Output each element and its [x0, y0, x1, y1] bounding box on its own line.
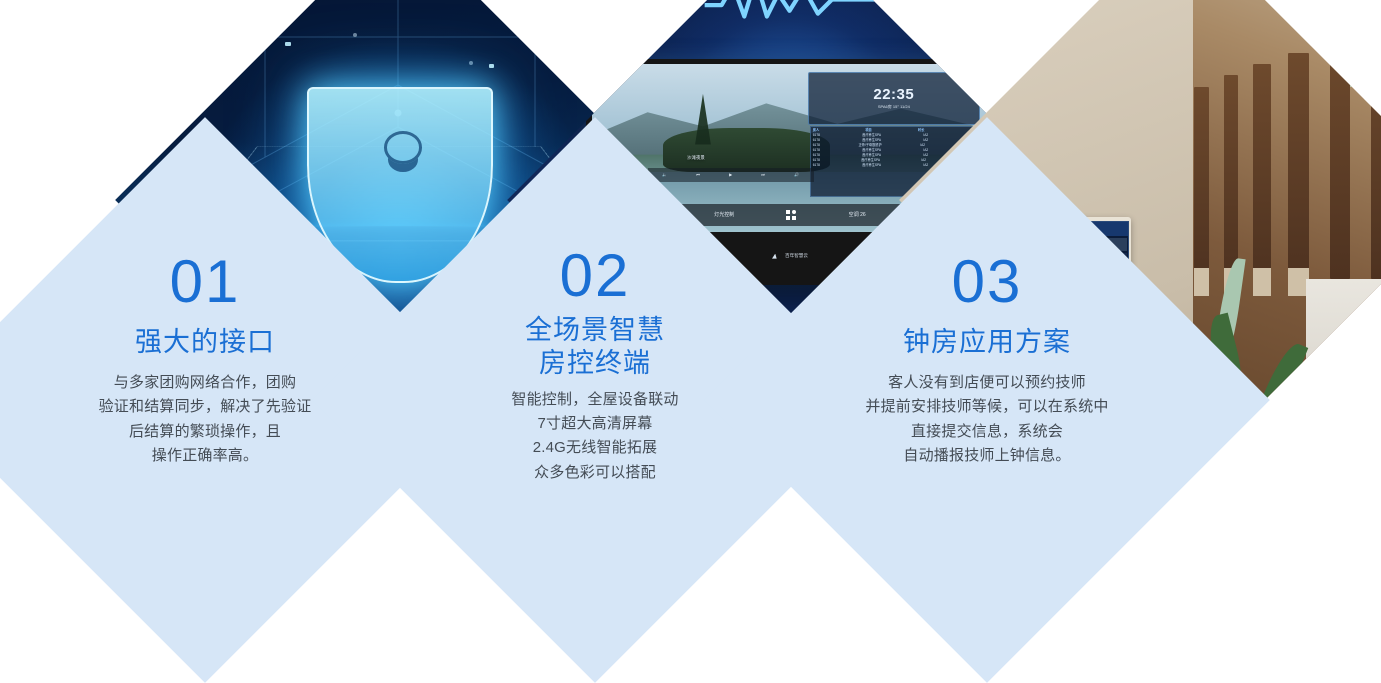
bottom-button-ac[interactable]: 空调 26 — [849, 211, 866, 218]
mute-icon[interactable]: 🔈 — [662, 172, 667, 177]
prev-icon[interactable]: ⏮ — [696, 172, 700, 177]
next-icon[interactable]: ⏭ — [761, 172, 765, 177]
feature-number-01: 01 — [170, 252, 241, 312]
feature-number-02: 02 — [560, 246, 631, 306]
tablet-temp: 15° — [893, 104, 899, 109]
bottom-button-light[interactable]: 灯光控制 — [714, 211, 734, 218]
brand-name: 百年智慧云 — [785, 253, 808, 259]
volume-icon[interactable]: 🔊 — [794, 172, 799, 177]
brand-logo-icon — [772, 254, 781, 259]
tablet-date: 11/24 — [900, 104, 910, 109]
play-icon[interactable]: ▶ — [729, 172, 732, 177]
feature-title-03: 钟房应用方案 — [903, 326, 1071, 359]
tablet-room: SPA6房 — [878, 104, 892, 109]
feature-desc-02: 智能控制，全屋设备联动 7寸超大高清屏幕 2.4G无线智能拓展 众多色彩可以搭配 — [511, 388, 678, 485]
tablet-time: 22:35 — [873, 87, 914, 102]
diamond-feature-grid: 22:35 SPA6房 15° 11/24 房人 项目 时长 — [0, 0, 1381, 603]
feature-number-03: 03 — [952, 252, 1023, 312]
tablet-scene-label: 沙滩夜景 — [687, 155, 705, 161]
feature-desc-01: 与多家团购网络合作，团购 验证和结算同步，解决了先验证 后结算的繁琐操作，且 操… — [99, 371, 312, 468]
app-grid-icon[interactable] — [786, 210, 796, 220]
tablet-clock-widget: 22:35 SPA6房 15° 11/24 — [808, 72, 980, 125]
feature-desc-03: 客人没有到店便可以预约技师 并提前安排技师等候，可以在系统中 直接提交信息，系统… — [865, 371, 1108, 468]
tablet-media-controls: 🔈 ⏮ ▶ ⏭ 🔊 — [648, 168, 814, 182]
feature-title-02: 全场景智慧 房控终端 — [525, 314, 665, 380]
pulse-wave-icon — [699, 0, 880, 25]
feature-title-01: 强大的接口 — [135, 326, 275, 359]
